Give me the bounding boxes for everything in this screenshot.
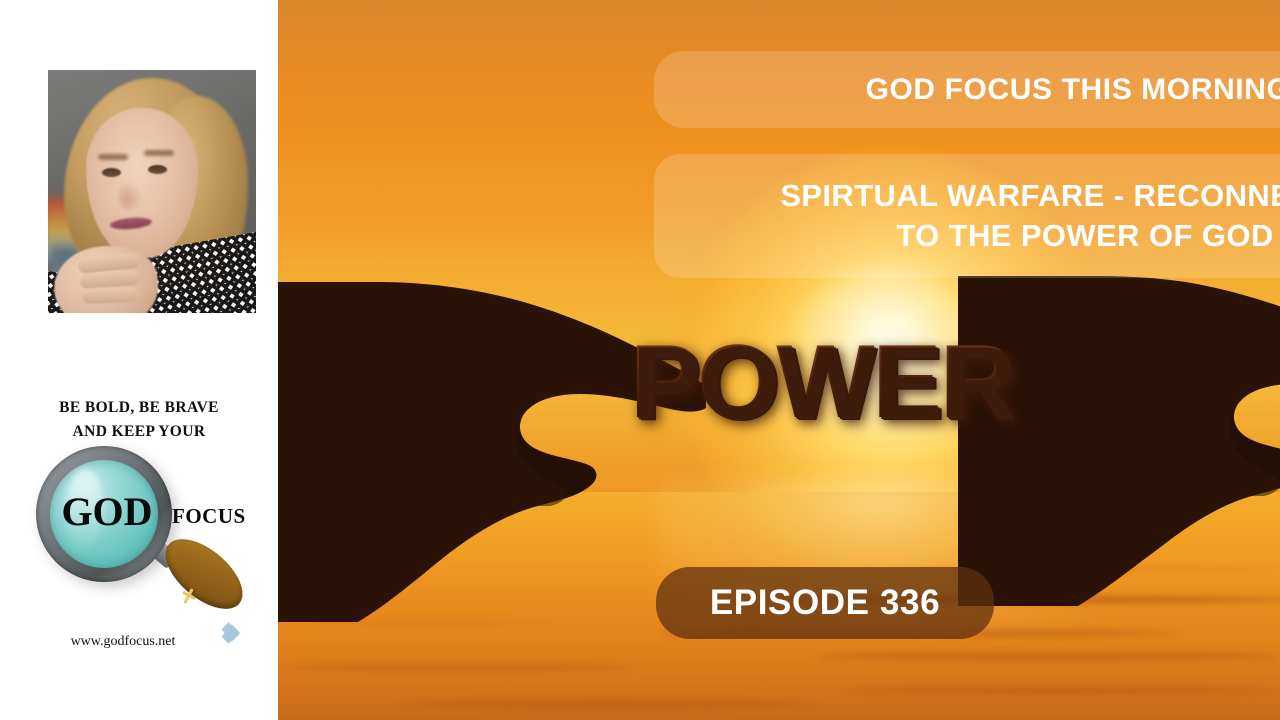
water-ripple [398, 700, 818, 708]
brand-tagline: BE BOLD, BE BRAVE AND KEEP YOUR [0, 396, 278, 444]
tagline-line-1: BE BOLD, BE BRAVE [0, 396, 278, 420]
power-word-text: POWER [630, 330, 1002, 434]
water-ripple [838, 686, 1278, 694]
portrait-nose [118, 182, 142, 210]
title-text-block: SPIRTUAL WARFARE - RECONNECTING TO THE P… [780, 176, 1280, 255]
logo-word-god: GOD [48, 492, 166, 532]
portrait-eye-left [102, 168, 121, 177]
title-line-1: SPIRTUAL WARFARE - RECONNECTING [780, 176, 1280, 216]
logo-word-focus: FOCUS [172, 504, 246, 529]
title-banner: SPIRTUAL WARFARE - RECONNECTING TO THE P… [654, 154, 1280, 278]
water-ripple [278, 664, 638, 671]
episode-artwork: POWER GOD FOCUS THIS MORNING SPIRTUAL WA… [278, 0, 1280, 720]
portrait-eye-right [148, 165, 167, 174]
portrait-finger-3 [82, 287, 138, 304]
water-ripple [818, 652, 1278, 661]
godfocus-logo: GOD FOCUS www.godfocus.net [30, 440, 270, 610]
kicker-text: GOD FOCUS THIS MORNING [866, 73, 1280, 107]
host-portrait-photo [48, 70, 256, 313]
logo-website-url: www.godfocus.net [30, 634, 216, 650]
heart-icon [224, 625, 241, 642]
title-line-2: TO THE POWER OF GOD [780, 216, 1280, 256]
episode-badge: EPISODE 336 [656, 567, 994, 639]
portrait-eyebrow-right [144, 150, 174, 156]
left-branding-panel: BE BOLD, BE BRAVE AND KEEP YOUR GOD FOCU… [0, 0, 278, 720]
episode-label: EPISODE 336 [710, 583, 940, 623]
portrait-eyebrow-left [98, 154, 128, 160]
podcast-thumbnail: BE BOLD, BE BRAVE AND KEEP YOUR GOD FOCU… [0, 0, 1280, 720]
kicker-banner: GOD FOCUS THIS MORNING [654, 51, 1280, 128]
